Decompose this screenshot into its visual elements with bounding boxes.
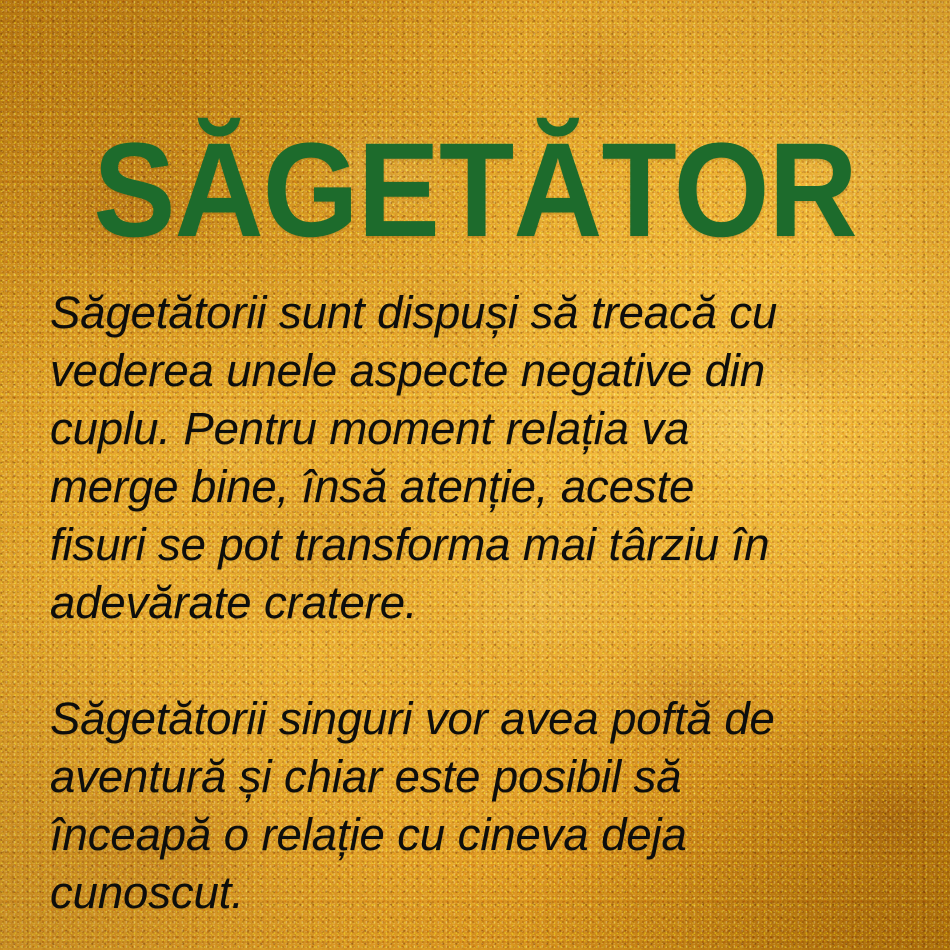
paragraph-line: Săgetătorii sunt dispuși să treacă cu (50, 284, 920, 342)
paragraph-line: fisuri se pot transforma mai târziu în (50, 516, 920, 574)
paragraph-line: cuplu. Pentru moment relația va (50, 400, 920, 458)
paragraph-line: aventură și chiar este posibil să (50, 748, 920, 806)
paragraph-line: merge bine, însă atenție, aceste (50, 458, 920, 516)
poster-content: SĂGETĂTOR Săgetătorii sunt dispuși să tr… (0, 0, 950, 950)
paragraph-line: cunoscut. (50, 864, 920, 922)
horoscope-paragraph-1: Săgetătorii sunt dispuși să treacă cu ve… (50, 284, 920, 632)
paragraph-line: adevărate cratere. (50, 574, 920, 632)
paragraph-line: Săgetătorii singuri vor avea poftă de (50, 690, 920, 748)
horoscope-body: Săgetătorii sunt dispuși să treacă cu ve… (50, 238, 920, 950)
paragraph-line: înceapă o relație cu cineva deja (50, 806, 920, 864)
horoscope-paragraph-2: Săgetătorii singuri vor avea poftă de av… (50, 690, 920, 922)
horoscope-poster: SĂGETĂTOR Săgetătorii sunt dispuși să tr… (0, 0, 950, 950)
paragraph-line: vederea unele aspecte negative din (50, 342, 920, 400)
